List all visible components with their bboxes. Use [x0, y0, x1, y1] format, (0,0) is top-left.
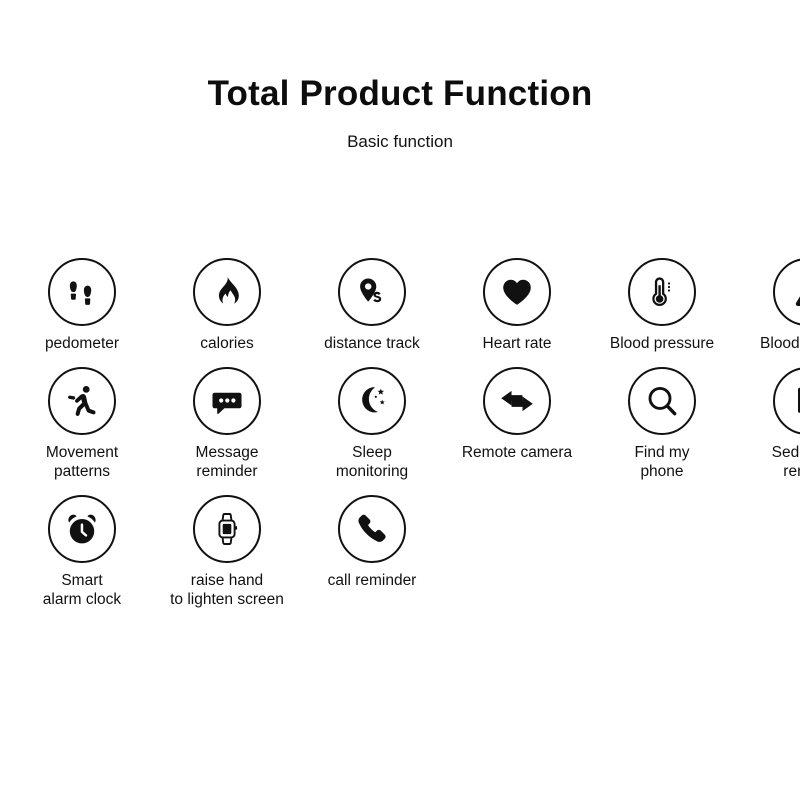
feature-label: Find my phone — [595, 443, 730, 481]
feature-item-blood-pressure[interactable]: Blood pressure — [599, 258, 725, 353]
speech-bubble-icon — [207, 381, 247, 421]
page-subtitle: Basic function — [0, 113, 800, 152]
feature-icon-badge — [338, 367, 406, 435]
feature-label: Remote camera — [441, 443, 593, 462]
feature-item-distance-track[interactable]: distance track — [309, 258, 435, 353]
magnifier-icon — [642, 381, 682, 421]
feature-icon-badge — [193, 367, 261, 435]
flame-icon — [208, 273, 246, 311]
feature-label: distance track — [305, 334, 440, 353]
feature-icon-badge — [628, 367, 696, 435]
two-way-arrows-icon — [497, 381, 537, 421]
feature-icon-badge — [338, 258, 406, 326]
feature-icon-badge — [193, 258, 261, 326]
feature-label: Heart rate — [450, 334, 585, 353]
feature-label: Message reminder — [160, 443, 295, 481]
feature-row: Smart alarm clock — [0, 495, 800, 609]
flask-icon — [787, 272, 800, 312]
feature-icon-badge — [483, 258, 551, 326]
feature-grid: pedometer calories — [0, 258, 800, 609]
phone-handset-icon — [353, 510, 391, 548]
feature-label: Sleep monitoring — [305, 443, 440, 481]
footprints-icon — [62, 272, 102, 312]
feature-item-message-reminder[interactable]: Message reminder — [164, 367, 290, 481]
poster-header: Total Product Function Basic function — [0, 0, 800, 151]
feature-item-movement-patterns[interactable]: Movement patterns — [19, 367, 145, 481]
running-person-icon — [62, 381, 102, 421]
feature-icon-badge — [773, 367, 800, 435]
feature-item-blood-oxygen[interactable]: Blood oxygen — [744, 258, 800, 353]
feature-label: Blood pressure — [586, 334, 738, 353]
feature-icon-badge — [193, 495, 261, 563]
feature-icon-badge — [628, 258, 696, 326]
feature-icon-badge — [48, 367, 116, 435]
feature-item-find-my-phone[interactable]: Find my phone — [599, 367, 725, 481]
feature-icon-badge — [338, 495, 406, 563]
smartwatch-icon — [207, 509, 247, 549]
feature-label: call reminder — [305, 571, 440, 590]
feature-label: Smart alarm clock — [15, 571, 150, 609]
feature-icon-badge — [483, 367, 551, 435]
feature-icon-badge — [48, 495, 116, 563]
feature-item-smart-alarm-clock[interactable]: Smart alarm clock — [19, 495, 145, 609]
feature-item-sleep-monitoring[interactable]: Sleep monitoring — [309, 367, 435, 481]
page-title: Total Product Function — [0, 0, 800, 113]
feature-item-remote-camera[interactable]: Remote camera — [454, 367, 580, 462]
thermometer-icon — [642, 272, 682, 312]
feature-label: Movement patterns — [15, 443, 150, 481]
feature-icon-badge — [773, 258, 800, 326]
heart-icon — [498, 273, 536, 311]
seated-person-icon — [787, 381, 800, 421]
product-function-poster: Total Product Function Basic function — [0, 0, 800, 800]
feature-item-calories[interactable]: calories — [164, 258, 290, 353]
feature-label: raise hand to lighten screen — [151, 571, 303, 609]
map-pin-route-icon — [352, 272, 392, 312]
feature-item-heart-rate[interactable]: Heart rate — [454, 258, 580, 353]
feature-row: Movement patterns Message reminder — [0, 367, 800, 481]
feature-label: pedometer — [15, 334, 150, 353]
feature-item-sedentary-remind[interactable]: Sedentary remind — [744, 367, 800, 481]
moon-stars-icon — [352, 381, 392, 421]
feature-label: Sedentary remind — [740, 443, 800, 481]
feature-icon-badge — [48, 258, 116, 326]
feature-item-call-reminder[interactable]: call reminder — [309, 495, 435, 590]
feature-label: Blood oxygen — [731, 334, 800, 353]
feature-item-raise-hand[interactable]: raise hand to lighten screen — [164, 495, 290, 609]
alarm-clock-icon — [62, 509, 102, 549]
feature-row: pedometer calories — [0, 258, 800, 353]
feature-label: calories — [160, 334, 295, 353]
feature-item-pedometer[interactable]: pedometer — [19, 258, 145, 353]
